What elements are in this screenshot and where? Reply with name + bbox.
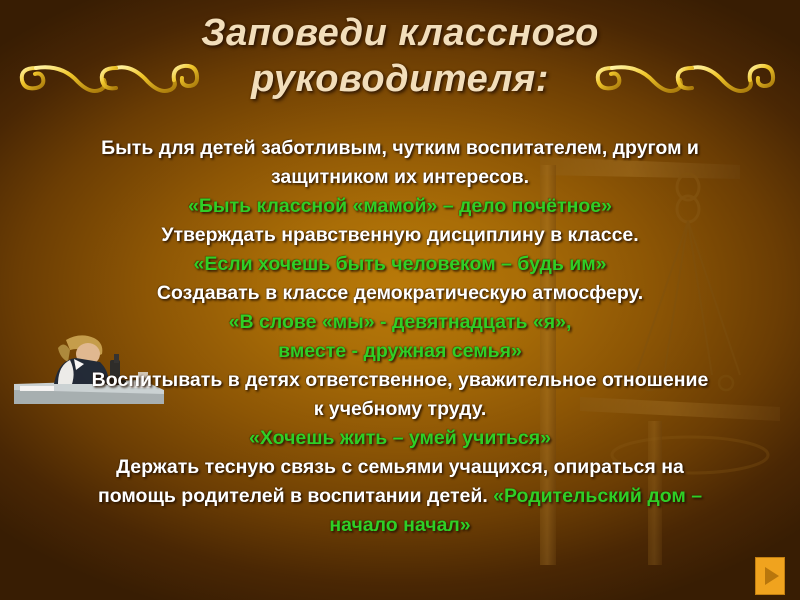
commandment-line: Держать тесную связь с семьями учащихся,…: [22, 453, 778, 482]
commandment-segment: «Родительский дом –: [493, 485, 702, 507]
commandment-line: Создавать в классе демократическую атмос…: [22, 279, 778, 308]
commandment-line: Утверждать нравственную дисциплину в кла…: [22, 221, 778, 250]
commandment-line: Быть для детей заботливым, чутким воспит…: [22, 134, 778, 163]
play-triangle-icon: [765, 567, 779, 585]
commandments-list: Быть для детей заботливым, чутким воспит…: [22, 134, 778, 540]
slide-title-line-1: Заповеди классного: [0, 10, 800, 56]
commandment-segment: помощь родителей в воспитании детей.: [98, 485, 493, 507]
commandment-line: вместе - дружная семья»: [22, 337, 778, 366]
slide-title-line-2: руководителя:: [0, 56, 800, 102]
commandment-line: «Если хочешь быть человеком – будь им»: [22, 250, 778, 279]
slide-title: Заповеди классного руководителя:: [0, 10, 800, 102]
commandment-line: к учебному труду.: [22, 395, 778, 424]
commandment-line: «Быть классной «мамой» – дело почётное»: [22, 192, 778, 221]
presentation-slide: Заповеди классного руководителя: Быть дл…: [0, 0, 800, 600]
commandment-line: защитником их интересов.: [22, 163, 778, 192]
next-slide-button[interactable]: [755, 557, 785, 595]
commandment-line: Воспитывать в детях ответственное, уважи…: [22, 366, 778, 395]
commandment-line-mixed: помощь родителей в воспитании детей. «Ро…: [22, 482, 778, 511]
commandment-line: «В слове «мы» - девятнадцать «я»,: [22, 308, 778, 337]
commandment-line: начало начал»: [22, 511, 778, 540]
commandment-line: «Хочешь жить – умей учиться»: [22, 424, 778, 453]
